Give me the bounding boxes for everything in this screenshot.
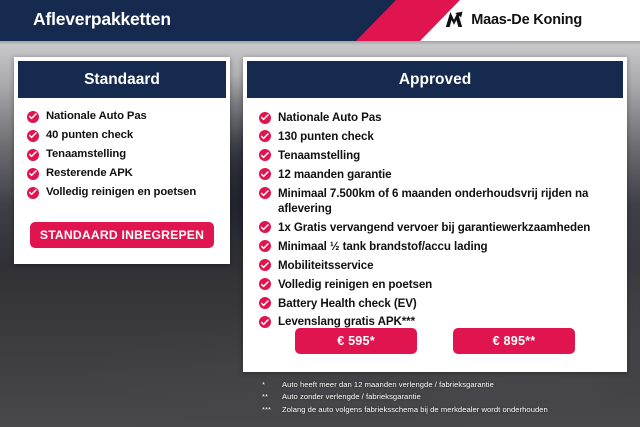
- check-circle-icon: [259, 168, 271, 180]
- feature-item: Resterende APK: [27, 166, 222, 181]
- feature-item: Nationale Auto Pas: [259, 110, 617, 125]
- approved-price-row: € 595*€ 895**: [243, 328, 627, 354]
- check-circle-icon: [259, 316, 271, 328]
- check-circle-icon: [259, 278, 271, 290]
- footnote-marker: *: [262, 379, 282, 391]
- feature-item: Volledig reinigen en poetsen: [27, 185, 222, 200]
- price-button[interactable]: € 895**: [453, 328, 575, 354]
- standard-package-card: Standaard Nationale Auto Pas40 punten ch…: [14, 57, 230, 264]
- page-title: Afleverpakketten: [33, 9, 171, 30]
- feature-item: Volledig reinigen en poetsen: [259, 277, 617, 292]
- feature-item: 12 maanden garantie: [259, 167, 617, 182]
- footnote-text: Auto zonder verlengde / fabrieksgarantie: [282, 391, 421, 403]
- footnote-text: Auto heeft meer dan 12 maanden verlengde…: [282, 379, 494, 391]
- footnote-row: ***Zolang de auto volgens fabrieksschema…: [262, 404, 632, 416]
- header-shadow: [0, 41, 640, 45]
- standard-inbegrepen-button[interactable]: STANDAARD INBEGREPEN: [30, 222, 214, 248]
- approved-card-title: Approved: [247, 61, 623, 98]
- check-circle-icon: [259, 259, 271, 271]
- footnote-row: **Auto zonder verlengde / fabrieksgarant…: [262, 391, 632, 403]
- check-circle-icon: [259, 149, 271, 161]
- check-circle-icon: [259, 130, 271, 142]
- feature-item: Battery Health check (EV): [259, 296, 617, 311]
- feature-item: 130 punten check: [259, 129, 617, 144]
- check-circle-icon: [259, 297, 271, 309]
- check-circle-icon: [27, 130, 39, 142]
- standard-card-title: Standaard: [18, 61, 226, 98]
- feature-label: 130 punten check: [278, 129, 374, 144]
- feature-label: Nationale Auto Pas: [278, 110, 381, 125]
- check-circle-icon: [27, 149, 39, 161]
- feature-label: Mobiliteitsservice: [278, 258, 374, 273]
- check-circle-icon: [27, 168, 39, 180]
- footnote-marker: ***: [262, 404, 282, 416]
- check-circle-icon: [259, 221, 271, 233]
- feature-item: Mobiliteitsservice: [259, 258, 617, 273]
- feature-item: 40 punten check: [27, 128, 222, 143]
- footnote-marker: **: [262, 391, 282, 403]
- brand-name: Maas-De Koning: [471, 12, 582, 28]
- brand-logo: Maas-De Koning: [444, 11, 582, 28]
- standard-feature-list: Nationale Auto Pas40 punten checkTenaams…: [14, 98, 230, 200]
- feature-label: 40 punten check: [46, 128, 133, 143]
- feature-label: 12 maanden garantie: [278, 167, 391, 182]
- feature-label: Battery Health check (EV): [278, 296, 417, 311]
- maas-de-koning-m-logo-icon: [444, 11, 464, 28]
- feature-item: Minimaal 7.500km of 6 maanden onderhouds…: [259, 186, 617, 217]
- check-circle-icon: [27, 111, 39, 123]
- feature-item: 1x Gratis vervangend vervoer bij garanti…: [259, 220, 617, 235]
- feature-label: 1x Gratis vervangend vervoer bij garanti…: [278, 220, 590, 235]
- afleverpakketten-page: Afleverpakketten Maas-De Koning Standaar…: [0, 0, 640, 427]
- feature-item: Tenaamstelling: [259, 148, 617, 163]
- check-circle-icon: [27, 187, 39, 199]
- page-header: Afleverpakketten Maas-De Koning: [0, 0, 640, 41]
- feature-item: Minimaal ½ tank brandstof/accu lading: [259, 239, 617, 254]
- feature-label: Nationale Auto Pas: [46, 109, 147, 124]
- feature-label: Minimaal 7.500km of 6 maanden onderhouds…: [278, 186, 617, 217]
- feature-label: Tenaamstelling: [278, 148, 360, 163]
- check-circle-icon: [259, 240, 271, 252]
- feature-label: Resterende APK: [46, 166, 133, 181]
- price-button[interactable]: € 595*: [295, 328, 417, 354]
- feature-item: Tenaamstelling: [27, 147, 222, 162]
- feature-label: Volledig reinigen en poetsen: [46, 185, 196, 200]
- check-circle-icon: [259, 112, 271, 124]
- feature-label: Volledig reinigen en poetsen: [278, 277, 432, 292]
- feature-label: Tenaamstelling: [46, 147, 126, 162]
- approved-package-card: Approved Nationale Auto Pas130 punten ch…: [243, 57, 627, 372]
- footnote-text: Zolang de auto volgens fabrieksschema bi…: [282, 404, 548, 416]
- approved-feature-list: Nationale Auto Pas130 punten checkTenaam…: [243, 98, 627, 330]
- footnote-row: *Auto heeft meer dan 12 maanden verlengd…: [262, 379, 632, 391]
- feature-item: Nationale Auto Pas: [27, 109, 222, 124]
- feature-label: Minimaal ½ tank brandstof/accu lading: [278, 239, 488, 254]
- check-circle-icon: [259, 187, 271, 199]
- footnote-block: *Auto heeft meer dan 12 maanden verlengd…: [262, 379, 632, 416]
